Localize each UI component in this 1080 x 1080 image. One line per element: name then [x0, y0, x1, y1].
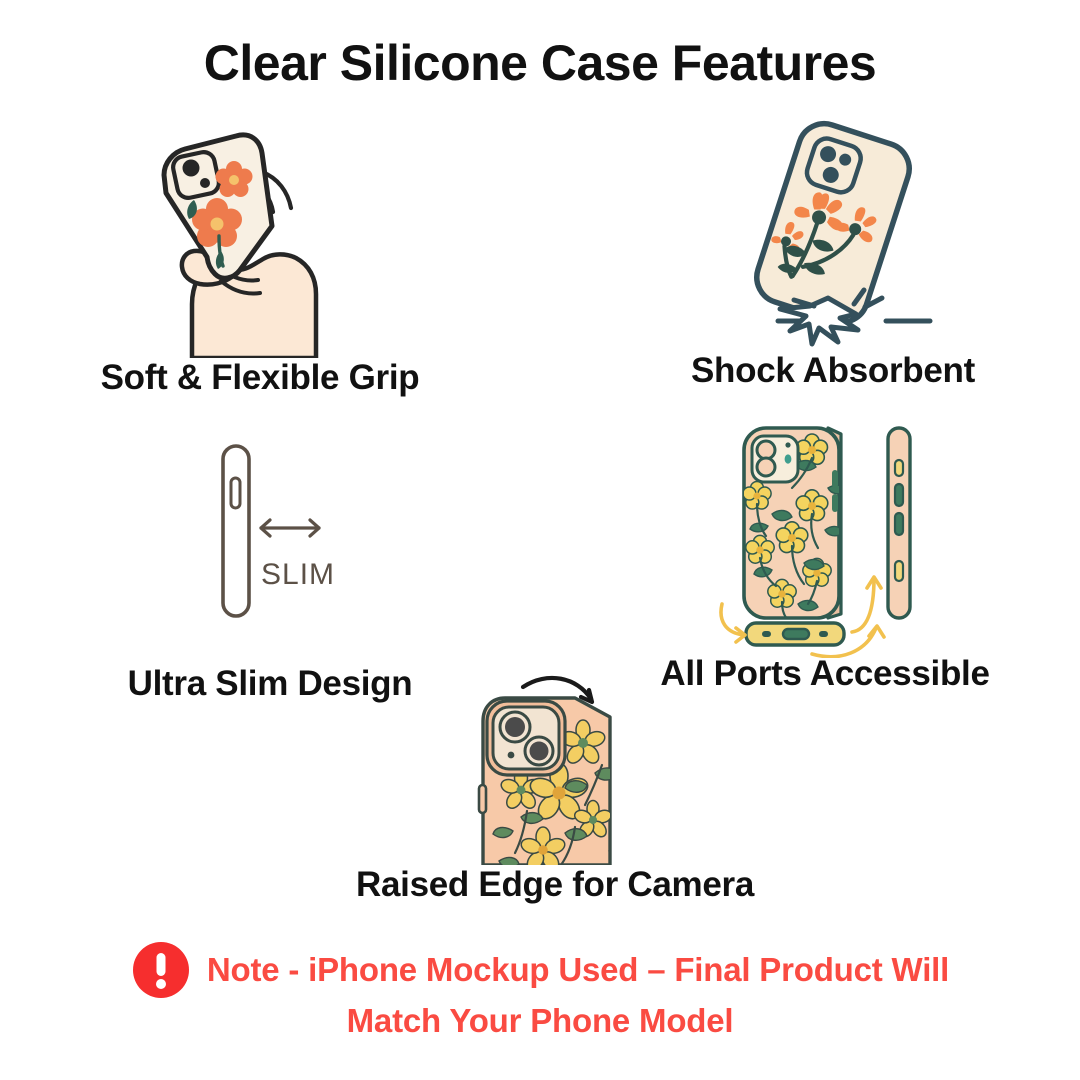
feature-label-camera: Raised Edge for Camera: [310, 865, 800, 905]
exclamation-circle-icon: [131, 940, 191, 1000]
feature-label-slim: Ultra Slim Design: [65, 664, 475, 704]
phone-back-side-bottom-ports-icon: [700, 418, 950, 658]
note-row-primary: Note - iPhone Mockup Used – Final Produc…: [40, 940, 1040, 1000]
feature-raised-edge-camera: Raised Edge for Camera: [455, 665, 655, 865]
feature-ultra-slim-design: SLIM Ultra Slim Design: [185, 430, 355, 630]
infographic-canvas: Clear Silicone Case Features: [0, 0, 1080, 1080]
feature-shock-absorbent: Shock Absorbent: [718, 118, 948, 348]
note-line-1: Note - iPhone Mockup Used – Final Produc…: [207, 948, 949, 992]
hand-holding-flexing-phone-case-icon: [120, 118, 400, 358]
phone-case-impact-burst-icon: [718, 118, 948, 348]
note-section: Note - iPhone Mockup Used – Final Produc…: [0, 940, 1080, 1040]
feature-soft-flexible-grip: Soft & Flexible Grip: [120, 118, 400, 358]
page-title: Clear Silicone Case Features: [0, 34, 1080, 92]
note-line-2: Match Your Phone Model: [0, 1002, 1080, 1040]
feature-label-ports: All Ports Accessible: [635, 654, 1015, 694]
feature-all-ports-accessible: All Ports Accessible: [700, 418, 950, 658]
phone-raised-camera-edge-icon: [455, 665, 655, 865]
phone-side-profile-slim-icon: [185, 430, 355, 630]
slim-measure-label: SLIM: [261, 558, 335, 592]
feature-label-grip: Soft & Flexible Grip: [60, 358, 460, 398]
feature-label-shock: Shock Absorbent: [633, 351, 1033, 391]
